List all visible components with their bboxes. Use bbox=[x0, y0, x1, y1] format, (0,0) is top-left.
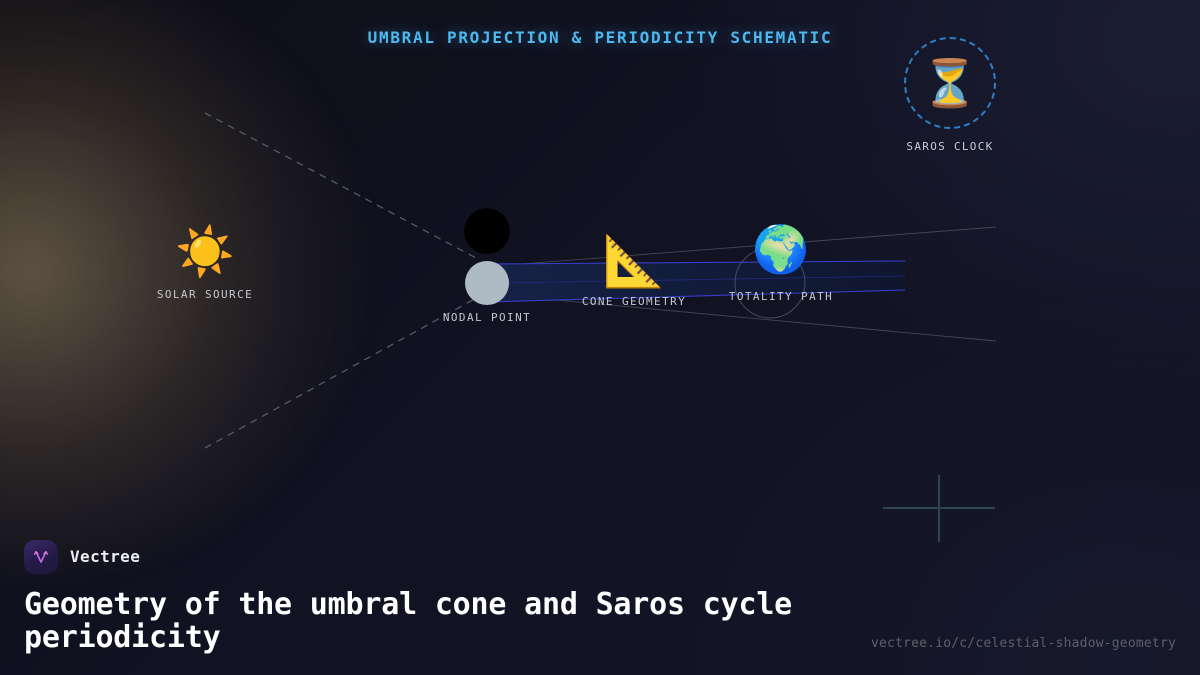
node-nodal-point[interactable]: 🌑 bbox=[427, 207, 547, 259]
saros-clock-label: SAROS CLOCK bbox=[885, 140, 1015, 153]
brand-name: Vectree bbox=[70, 547, 140, 566]
brand-row: Vectree bbox=[24, 540, 1176, 574]
footer: Vectree Geometry of the umbral cone and … bbox=[0, 540, 1200, 675]
vectree-logo-icon bbox=[24, 540, 58, 574]
new-moon-icon: 🌑 bbox=[427, 207, 547, 259]
earth-globe-icon: 🌍 bbox=[721, 226, 841, 272]
node-totality-path[interactable]: 🌍 TOTALITY PATH bbox=[721, 226, 841, 303]
node-solar-source[interactable]: ☀️ SOLAR SOURCE bbox=[145, 228, 265, 301]
node-cone-geometry[interactable]: 📐 CONE GEOMETRY bbox=[574, 236, 694, 308]
triangular-ruler-icon: 📐 bbox=[574, 236, 694, 286]
nodal-point-disc bbox=[465, 261, 509, 305]
schematic-canvas: UMBRAL PROJECTION & PERIODICITY SCHEMATI… bbox=[0, 0, 1200, 675]
node-label-solar-source: SOLAR SOURCE bbox=[145, 288, 265, 301]
footer-url: vectree.io/c/celestial-shadow-geometry bbox=[871, 636, 1176, 651]
sun-icon: ☀️ bbox=[145, 228, 265, 276]
node-label-cone-geometry: CONE GEOMETRY bbox=[574, 295, 694, 308]
hourglass-icon: ⏳ bbox=[921, 60, 978, 106]
node-label-totality-path: TOTALITY PATH bbox=[721, 290, 841, 303]
headline: Geometry of the umbral cone and Saros cy… bbox=[24, 588, 864, 655]
node-label-nodal-point: NODAL POINT bbox=[427, 311, 547, 324]
saros-clock-badge[interactable]: ⏳ SAROS CLOCK bbox=[885, 37, 1015, 153]
saros-clock-ring: ⏳ bbox=[904, 37, 996, 129]
